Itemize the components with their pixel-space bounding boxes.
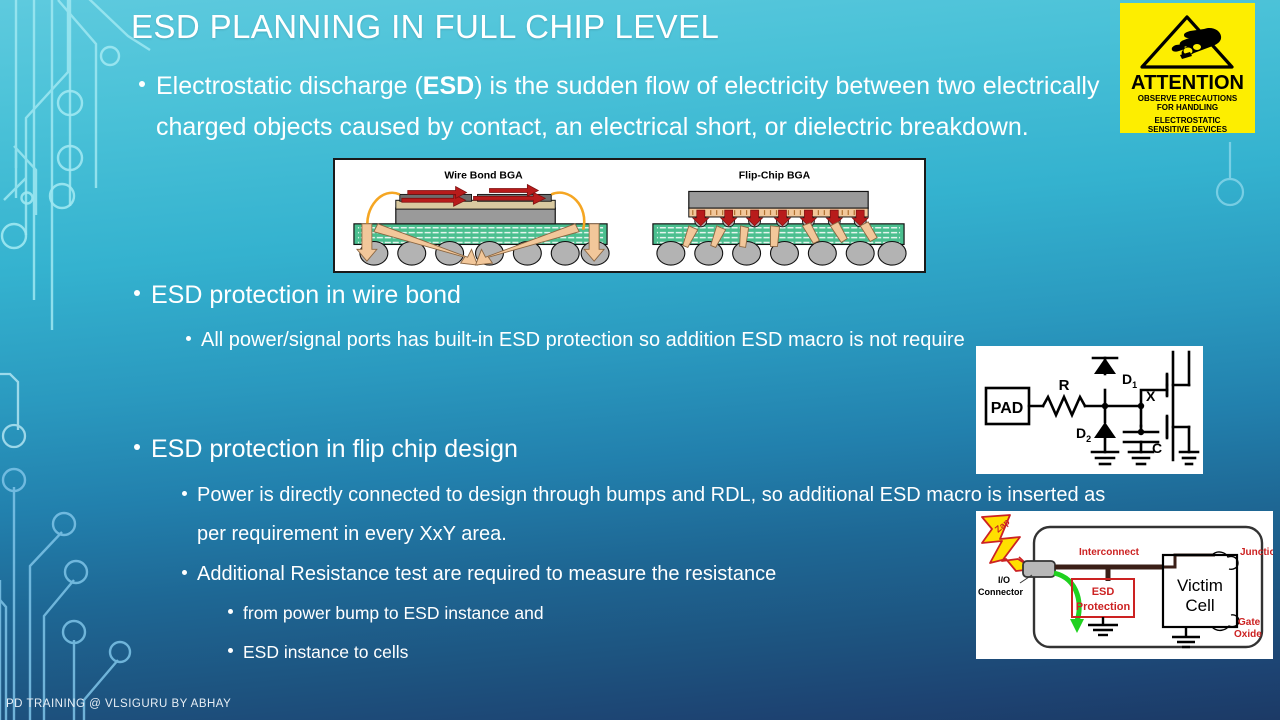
bullet-intro: Electrostatic discharge (ESD) is the sud… (139, 66, 1139, 148)
bullet-marker (139, 81, 145, 87)
bullet-level3-b: ESD instance to cells (228, 635, 848, 669)
esd-sign-line1: ATTENTION (1131, 72, 1244, 94)
esd-sign-line4: ELECTROSTATIC (1155, 116, 1221, 125)
bullet-wire-bond-text: ESD protection in wire bond (151, 275, 461, 316)
interconnect-label: Interconnect (1079, 547, 1140, 558)
bullet-marker (228, 609, 233, 614)
bullet-wire-bond-sub-text: All power/signal ports has built-in ESD … (201, 321, 965, 360)
bullet-wire-bond-heading: ESD protection in wire bond (134, 275, 834, 316)
esd-protection-label-line2: Protection (1076, 601, 1131, 613)
bullet-marker (186, 336, 191, 341)
resistor-label: R (1059, 377, 1070, 394)
esd-circuit-figure: PAD R D1 D2 X C (976, 346, 1203, 474)
bullet-marker (134, 290, 140, 296)
esd-sign-line3: FOR HANDLING (1157, 103, 1218, 112)
flip-chip-bga-label: Flip-Chip BGA (739, 171, 811, 182)
bullet-level3-a-text: from power bump to ESD instance and (243, 596, 544, 630)
io-connector-label-line1: I/O (998, 575, 1010, 585)
slide-canvas: ESD PLANNING IN FULL CHIP LEVEL Electros… (0, 0, 1280, 720)
esd-sign-line5: SENSITIVE DEVICES (1148, 125, 1228, 133)
bullet-level3-a: from power bump to ESD instance and (228, 596, 848, 630)
bullet-level3-b-text: ESD instance to cells (243, 635, 408, 669)
intro-text-part1: Electrostatic discharge ( (156, 72, 423, 100)
bullet-flip-chip-heading: ESD protection in flip chip design (134, 429, 834, 470)
bullet-intro-text: Electrostatic discharge (ESD) is the sud… (156, 66, 1139, 148)
intro-text-bold: ESD (423, 72, 474, 100)
junction-label: Junction (1240, 547, 1273, 558)
gate-oxide-label-line1: Gate (1238, 617, 1261, 628)
bullet-marker (182, 570, 187, 575)
pad-label: PAD (991, 400, 1024, 417)
bullet-marker (182, 491, 187, 496)
gate-oxide-label-line2: Oxide (1234, 629, 1262, 640)
victim-cell-label-line2: Cell (1185, 596, 1214, 615)
node-x-label: X (1146, 388, 1156, 404)
victim-cell-label-line1: Victim (1177, 576, 1223, 595)
footer-text: PD TRAINING @ VLSIGURU BY ABHAY (6, 698, 231, 710)
page-title: ESD PLANNING IN FULL CHIP LEVEL (131, 8, 719, 46)
bullet-flip-chip-sub2: Additional Resistance test are required … (182, 555, 1082, 594)
bullet-wire-bond-sub: All power/signal ports has built-in ESD … (186, 321, 1106, 360)
esd-protection-label-line1: ESD (1092, 586, 1115, 598)
bullet-flip-chip-sub2-text: Additional Resistance test are required … (197, 555, 776, 594)
capacitor-label: C (1152, 440, 1162, 456)
wire-bond-bga-label: Wire Bond BGA (444, 171, 523, 182)
victim-cell-figure: Zap I/O Connector Interconnect ESD Prote… (976, 511, 1273, 659)
io-connector-label-line2: Connector (978, 587, 1023, 597)
bullet-marker (228, 648, 233, 653)
bga-comparison-figure: Wire Bond BGA (333, 158, 926, 273)
bullet-flip-chip-text: ESD protection in flip chip design (151, 429, 518, 470)
esd-sign-line2: OBSERVE PRECAUTIONS (1138, 94, 1238, 103)
esd-attention-sign: ATTENTION OBSERVE PRECAUTIONS FOR HANDLI… (1120, 3, 1255, 133)
bullet-marker (134, 444, 140, 450)
